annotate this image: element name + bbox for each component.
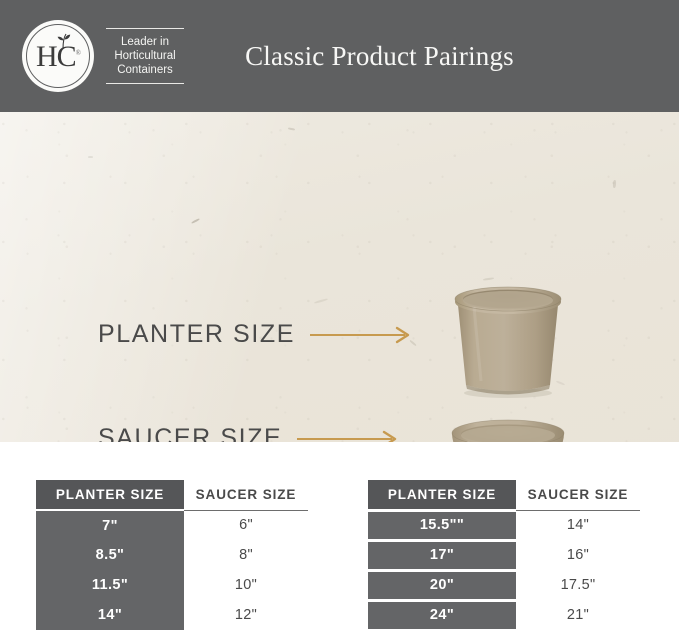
texture-speck [191, 218, 200, 224]
saucer-dish-image [438, 415, 578, 442]
table-header-row: PLANTER SIZE SAUCER SIZE [368, 480, 640, 510]
texture-speck [314, 298, 328, 304]
table-row: 24" 21" [368, 600, 640, 630]
table-row: 11.5" 10" [36, 570, 308, 600]
tagline-rule-bottom [106, 83, 184, 84]
cell-saucer-size: 8" [184, 540, 308, 570]
tagline-line-2: Horticultural [106, 49, 184, 63]
table-row: 8.5" 8" [36, 540, 308, 570]
arrow-right-icon [296, 430, 404, 443]
table-row: 17" 16" [368, 540, 640, 570]
page-header: HC® Leader in Horticultural Containers C… [0, 0, 679, 112]
cell-saucer-size: 6" [184, 510, 308, 540]
cell-saucer-size: 16" [516, 540, 640, 570]
pairings-table-left: PLANTER SIZE SAUCER SIZE 7" 6" 8.5" 8" 1… [36, 480, 308, 630]
texture-speck [88, 156, 93, 158]
hc-logo: HC® [22, 20, 94, 92]
cell-planter-size: 8.5" [36, 540, 184, 570]
callout-label-planter: PLANTER SIZE [98, 320, 295, 349]
callout-planter-size: PLANTER SIZE [98, 320, 417, 349]
cell-saucer-size: 14" [516, 510, 640, 540]
cell-planter-size: 15.5"" [368, 510, 516, 540]
pairings-table: PLANTER SIZE SAUCER SIZE 7" 6" 8.5" 8" 1… [36, 480, 308, 630]
table-row: 7" 6" [36, 510, 308, 540]
table-header-row: PLANTER SIZE SAUCER SIZE [36, 480, 308, 510]
cell-planter-size: 14" [36, 600, 184, 630]
cell-planter-size: 24" [368, 600, 516, 630]
texture-speck [613, 180, 617, 188]
cell-saucer-size: 21" [516, 600, 640, 630]
column-header-planter-size: PLANTER SIZE [368, 480, 516, 510]
table-row: 20" 17.5" [368, 570, 640, 600]
logo-registered-mark: ® [76, 49, 80, 57]
column-header-saucer-size: SAUCER SIZE [184, 480, 308, 510]
logo-letters-text: HC [36, 40, 76, 73]
table-row: 15.5"" 14" [368, 510, 640, 540]
column-header-saucer-size: SAUCER SIZE [516, 480, 640, 510]
cell-planter-size: 17" [368, 540, 516, 570]
pairings-table-right: PLANTER SIZE SAUCER SIZE 15.5"" 14" 17" … [368, 480, 640, 631]
hero-panel: PLANTER SIZE SAUCER SIZE [0, 112, 679, 442]
texture-speck [288, 127, 295, 130]
column-header-planter-size: PLANTER SIZE [36, 480, 184, 510]
callout-saucer-size: SAUCER SIZE [98, 424, 404, 442]
brand-tagline: Leader in Horticultural Containers [104, 24, 186, 88]
cell-saucer-size: 10" [184, 570, 308, 600]
table-row: 14" 12" [36, 600, 308, 630]
tagline-line-3: Containers [106, 63, 184, 77]
planter-pot-image [438, 277, 578, 399]
cell-planter-size: 20" [368, 570, 516, 600]
cell-saucer-size: 17.5" [516, 570, 640, 600]
infographic-page: HC® Leader in Horticultural Containers C… [0, 0, 679, 636]
arrow-right-icon [309, 326, 417, 344]
cell-saucer-size: 12" [184, 600, 308, 630]
pairings-table: PLANTER SIZE SAUCER SIZE 15.5"" 14" 17" … [368, 480, 640, 631]
brand-lockup: HC® Leader in Horticultural Containers [22, 20, 186, 92]
logo-wordmark: HC® [36, 40, 80, 72]
callout-label-saucer: SAUCER SIZE [98, 424, 282, 442]
tagline-line-1: Leader in [106, 35, 184, 49]
cell-planter-size: 11.5" [36, 570, 184, 600]
tagline-rule-top [106, 28, 184, 29]
cell-planter-size: 7" [36, 510, 184, 540]
